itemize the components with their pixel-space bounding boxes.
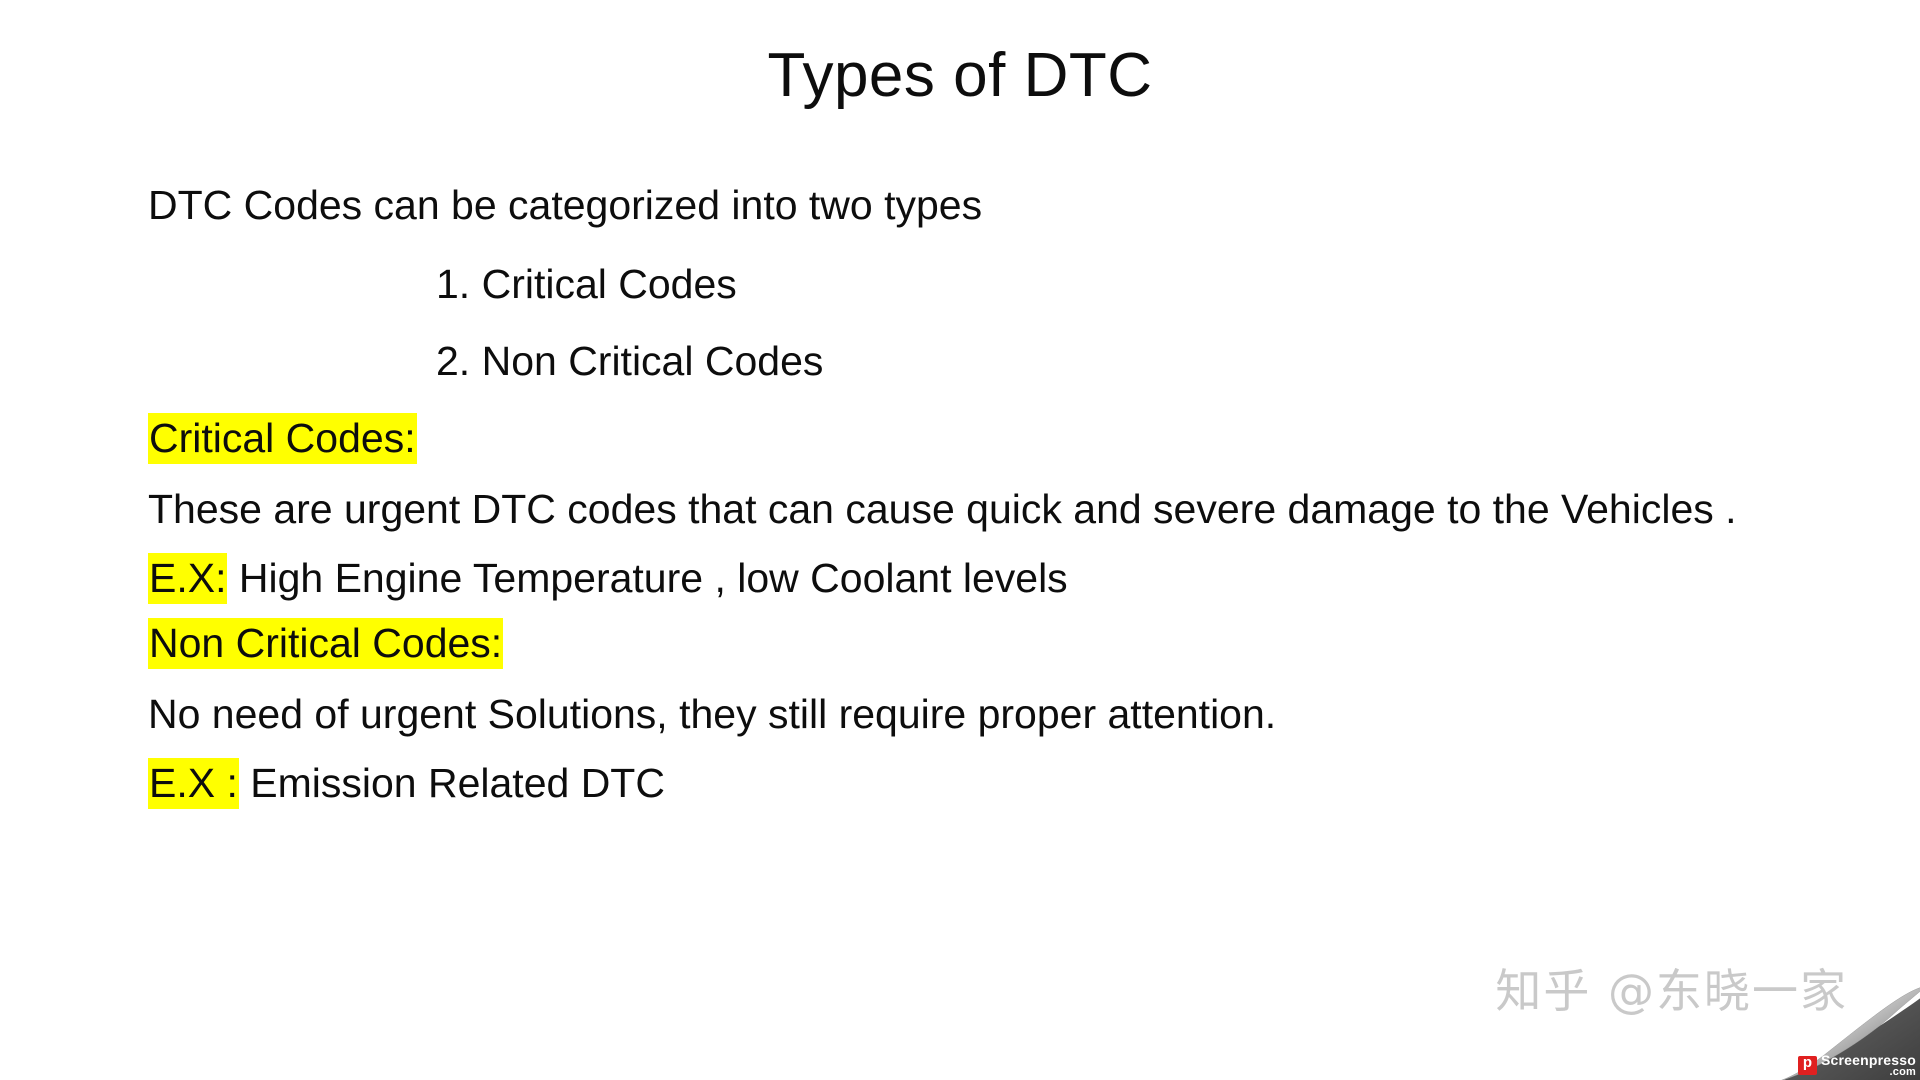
example-critical-label: E.X: — [148, 553, 227, 604]
intro-line: DTC Codes can be categorized into two ty… — [148, 178, 1848, 233]
slide-body: DTC Codes can be categorized into two ty… — [148, 178, 1848, 820]
screenpresso-badge: Screenpresso .com — [1798, 1053, 1916, 1078]
list-item-2: 2. Non Critical Codes — [436, 334, 1848, 389]
heading-critical-codes: Critical Codes: — [148, 411, 1848, 466]
heading-critical-codes-text: Critical Codes: — [148, 413, 417, 464]
paragraph-critical-codes: These are urgent DTC codes that can caus… — [148, 482, 1808, 537]
heading-non-critical-codes: Non Critical Codes: — [148, 616, 1848, 671]
screenpresso-label: Screenpresso .com — [1821, 1053, 1916, 1078]
page-title: Types of DTC — [0, 42, 1920, 110]
slide-canvas: Types of DTC DTC Codes can be categorize… — [0, 0, 1920, 1080]
example-critical-codes: E.X: High Engine Temperature , low Coola… — [148, 551, 1848, 606]
example-critical-text: High Engine Temperature , low Coolant le… — [227, 555, 1067, 601]
example-non-critical-codes: E.X : Emission Related DTC — [148, 756, 1848, 811]
list-item-1: 1. Critical Codes — [436, 257, 1848, 312]
screenpresso-tld: .com — [1890, 1067, 1916, 1078]
paragraph-non-critical-codes: No need of urgent Solutions, they still … — [148, 687, 1808, 742]
heading-non-critical-codes-text: Non Critical Codes: — [148, 618, 503, 669]
screenpresso-name: Screenpresso — [1821, 1053, 1916, 1067]
zhihu-watermark: 知乎 @东晓一家 — [1495, 968, 1848, 1014]
example-non-critical-text: Emission Related DTC — [239, 760, 665, 806]
screenpresso-logo-icon — [1798, 1056, 1817, 1075]
example-non-critical-label: E.X : — [148, 758, 239, 809]
